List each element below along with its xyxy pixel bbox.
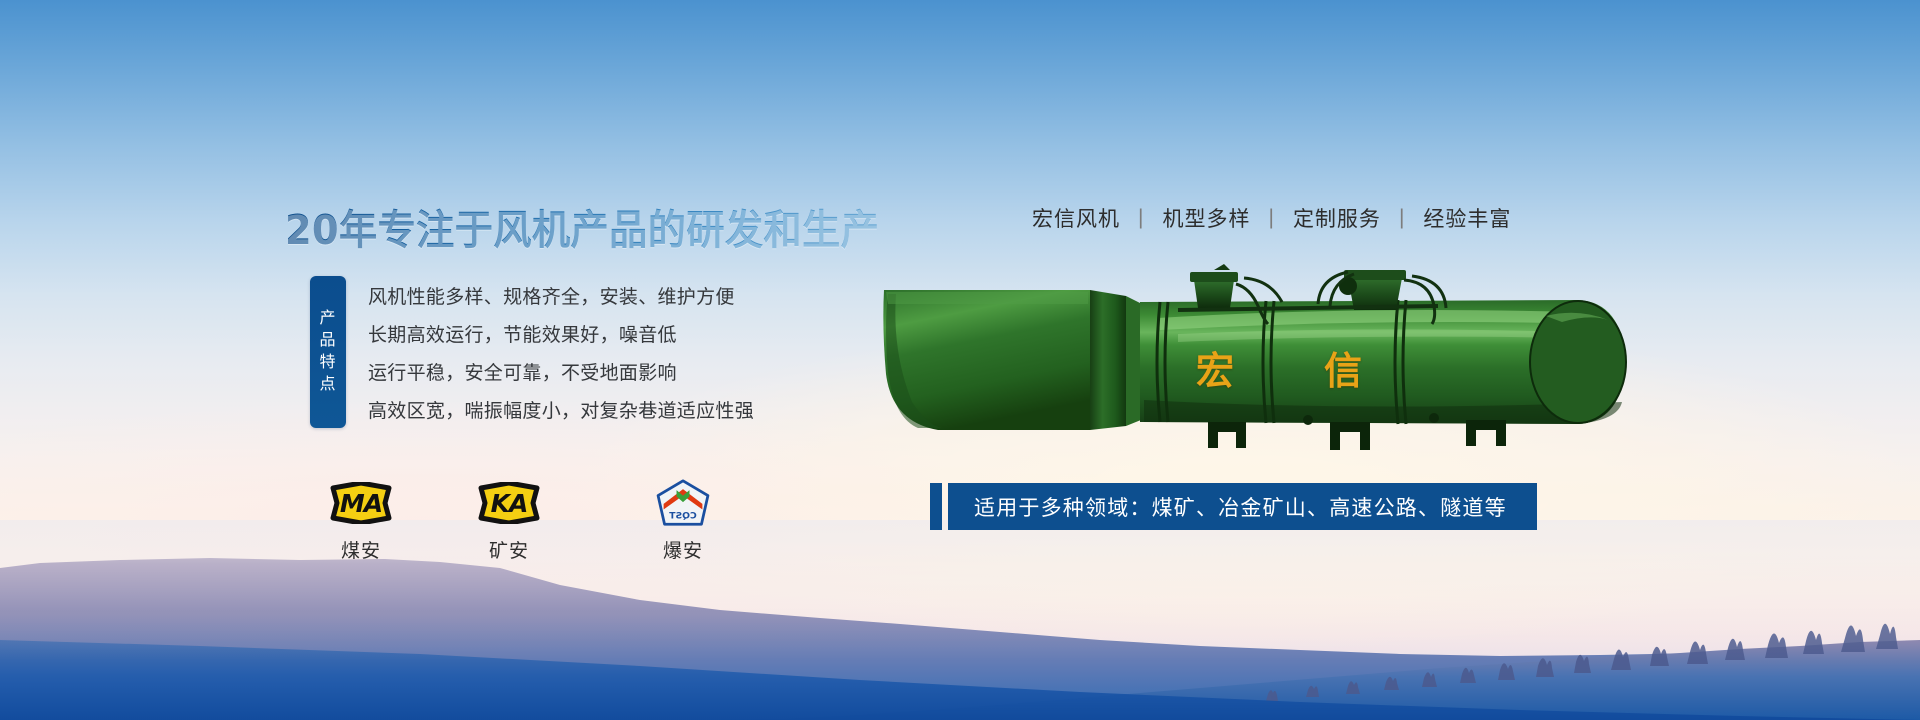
- certification-label: 矿安: [466, 536, 552, 563]
- banner-content: 20年专注于风机产品的研发和生产 宏信风机 | 机型多样 | 定制服务 | 经验…: [0, 0, 1920, 720]
- feature-item: 长期高效运行，节能效果好，噪音低: [368, 317, 754, 355]
- certification-cqst: CQST 爆安: [640, 478, 726, 563]
- support-leg: [1208, 420, 1506, 450]
- certification-label: 煤安: [318, 536, 404, 563]
- highlight-item-0: 宏信风机: [1030, 203, 1122, 233]
- hero-banner: 20年专注于风机产品的研发和生产 宏信风机 | 机型多样 | 定制服务 | 经验…: [0, 0, 1920, 720]
- banner-highlights: 宏信风机 | 机型多样 | 定制服务 | 经验丰富: [1030, 203, 1513, 233]
- product-image: 宏 信: [878, 262, 1648, 462]
- application-banner: 适用于多种领域：煤矿、冶金矿山、高速公路、隧道等: [930, 483, 1537, 530]
- certification-ma: MA 煤安: [318, 478, 404, 563]
- feature-item: 运行平稳，安全可靠，不受地面影响: [368, 355, 754, 393]
- feature-item: 风机性能多样、规格齐全，安装、维护方便: [368, 279, 754, 317]
- tag-char-0: 产: [319, 308, 336, 330]
- highlight-separator: |: [1383, 206, 1421, 230]
- tag-char-2: 特: [319, 352, 336, 374]
- highlight-item-3: 经验丰富: [1421, 203, 1513, 233]
- highlight-separator: |: [1122, 206, 1160, 230]
- application-banner-text: 适用于多种领域：煤矿、冶金矿山、高速公路、隧道等: [948, 483, 1537, 530]
- cqst-pentagon-badge-icon: CQST: [640, 478, 726, 528]
- tag-char-3: 点: [319, 374, 336, 396]
- ka-hex-badge-icon: KA: [466, 478, 552, 528]
- feature-item: 高效区宽，喘振幅度小，对复杂巷道适应性强: [368, 393, 754, 431]
- cqst-badge-text: CQST: [669, 511, 697, 522]
- certification-ka: KA 矿安: [466, 478, 552, 563]
- highlight-item-1: 机型多样: [1160, 203, 1252, 233]
- tag-char-1: 品: [319, 330, 336, 352]
- motor-housing: [1190, 264, 1238, 308]
- highlight-item-2: 定制服务: [1291, 203, 1383, 233]
- page-title: 20年专注于风机产品的研发和生产: [285, 196, 879, 256]
- feature-list: 风机性能多样、规格齐全，安装、维护方便 长期高效运行，节能效果好，噪音低 运行平…: [368, 279, 754, 431]
- application-banner-accent: [930, 483, 942, 530]
- highlight-separator: |: [1252, 206, 1290, 230]
- certification-label: 爆安: [640, 536, 726, 563]
- product-features-tag: 产 品 特 点: [310, 276, 346, 428]
- ka-badge-text: KA: [491, 489, 528, 518]
- ma-badge-text: MA: [340, 489, 382, 518]
- ma-hex-badge-icon: MA: [318, 478, 404, 528]
